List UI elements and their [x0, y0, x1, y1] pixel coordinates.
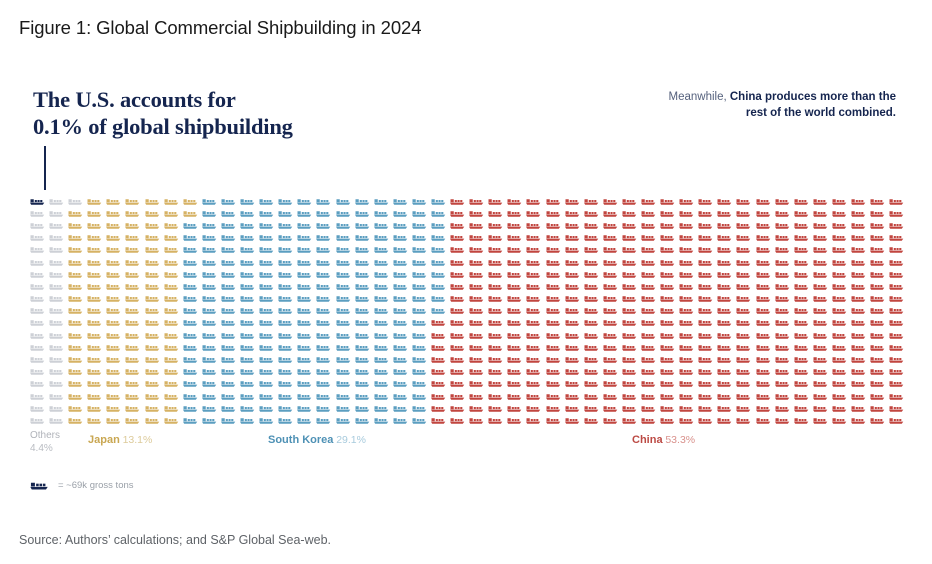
ship-icon [431, 366, 450, 378]
ship-icon [240, 329, 259, 341]
ship-icon [336, 366, 355, 378]
ship-icon [622, 329, 641, 341]
ship-icon [679, 329, 698, 341]
ship-icon [756, 353, 775, 365]
ship-icon [488, 317, 507, 329]
ship-icon [297, 232, 316, 244]
ship-icon [736, 280, 755, 292]
ship-icon [565, 378, 584, 390]
ship-icon [889, 219, 908, 231]
ship-icon [469, 232, 488, 244]
ship-icon [698, 280, 717, 292]
ship-icon [679, 280, 698, 292]
ship-icon [775, 341, 794, 353]
ship-icon [164, 353, 183, 365]
ship-icon [202, 232, 221, 244]
ship-icon [49, 219, 68, 231]
ship-icon [49, 317, 68, 329]
source-note: Source: Authors’ calculations; and S&P G… [19, 533, 331, 547]
ship-icon [698, 353, 717, 365]
ship-icon [68, 366, 87, 378]
ship-icon [565, 280, 584, 292]
ship-icon [641, 414, 660, 426]
ship-icon [698, 256, 717, 268]
china-annotation: Meanwhile, China produces more than the … [666, 90, 896, 121]
ship-icon [507, 414, 526, 426]
ship-icon [584, 256, 603, 268]
ship-icon [526, 341, 545, 353]
ship-icon [87, 366, 106, 378]
ship-icon [736, 329, 755, 341]
ship-icon [183, 195, 202, 207]
ship-icon [164, 317, 183, 329]
ship-icon [125, 207, 144, 219]
ship-icon [125, 305, 144, 317]
ship-icon [832, 305, 851, 317]
ship-icon [145, 317, 164, 329]
ship-icon [278, 378, 297, 390]
ship-icon [183, 280, 202, 292]
ship-icon [49, 244, 68, 256]
ship-icon [202, 390, 221, 402]
ship-icon [202, 293, 221, 305]
ship-icon [717, 402, 736, 414]
ship-icon [526, 293, 545, 305]
ship-icon [240, 402, 259, 414]
ship-icon [641, 329, 660, 341]
ship-icon [603, 280, 622, 292]
ship-icon [412, 414, 431, 426]
ship-icon [87, 341, 106, 353]
ship-icon [507, 268, 526, 280]
ship-icon [87, 414, 106, 426]
ship-icon [202, 329, 221, 341]
ship-icon [336, 353, 355, 365]
ship-icon [259, 232, 278, 244]
ship-icon [183, 293, 202, 305]
ship-icon [679, 402, 698, 414]
ship-icon [221, 341, 240, 353]
ship-icon [125, 195, 144, 207]
ship-icon [507, 317, 526, 329]
ship-icon [183, 414, 202, 426]
ship-icon [775, 232, 794, 244]
ship-icon [164, 232, 183, 244]
ship-icon [297, 402, 316, 414]
ship-icon [336, 195, 355, 207]
ship-icon [717, 378, 736, 390]
ship-icon [507, 341, 526, 353]
ship-icon [336, 280, 355, 292]
ship-icon [431, 207, 450, 219]
ship-icon [202, 353, 221, 365]
ship-icon [316, 414, 335, 426]
ship-icon [202, 317, 221, 329]
ship-icon [469, 402, 488, 414]
ship-icon [851, 378, 870, 390]
ship-icon [431, 317, 450, 329]
ship-icon [488, 219, 507, 231]
ship-icon [87, 207, 106, 219]
ship-icon [736, 402, 755, 414]
ship-icon [698, 414, 717, 426]
ship-icon [775, 317, 794, 329]
ship-icon [546, 414, 565, 426]
ship-icon [125, 353, 144, 365]
ship-icon [240, 207, 259, 219]
ship-icon [431, 195, 450, 207]
ship-icon [641, 317, 660, 329]
ship-icon [889, 341, 908, 353]
ship-icon [813, 244, 832, 256]
ship-icon [450, 353, 469, 365]
ship-icon [202, 414, 221, 426]
ship-icon [889, 317, 908, 329]
ship-icon [526, 232, 545, 244]
ship-icon [164, 390, 183, 402]
ship-icon [641, 390, 660, 402]
ship-icon [584, 219, 603, 231]
ship-icon [49, 341, 68, 353]
ship-icon [679, 195, 698, 207]
ship-icon [756, 402, 775, 414]
ship-icon [756, 219, 775, 231]
ship-icon [355, 293, 374, 305]
ship-icon [507, 353, 526, 365]
ship-icon [717, 195, 736, 207]
ship-icon [393, 256, 412, 268]
ship-icon [30, 378, 49, 390]
ship-icon [832, 244, 851, 256]
ship-icon [889, 378, 908, 390]
ship-icon [698, 317, 717, 329]
ship-icon [68, 378, 87, 390]
ship-icon [240, 268, 259, 280]
ship-icon [584, 378, 603, 390]
label-china-percent: 53.3% [665, 434, 695, 446]
ship-icon [603, 305, 622, 317]
ship-icon [603, 256, 622, 268]
ship-icon [221, 402, 240, 414]
ship-icon [221, 305, 240, 317]
ship-icon [603, 390, 622, 402]
ship-icon [565, 317, 584, 329]
ship-icon [336, 207, 355, 219]
ship-icon [202, 402, 221, 414]
ship-icon [813, 414, 832, 426]
ship-icon [507, 366, 526, 378]
ship-icon [660, 317, 679, 329]
ship-icon [584, 317, 603, 329]
ship-icon [145, 329, 164, 341]
ship-icon [221, 293, 240, 305]
ship-icon [106, 256, 125, 268]
ship-icon [240, 256, 259, 268]
ship-icon [794, 353, 813, 365]
ship-icon [794, 390, 813, 402]
ship-icon [813, 341, 832, 353]
ship-icon [450, 305, 469, 317]
ship-icon [125, 268, 144, 280]
ship-icon [374, 378, 393, 390]
ship-icon [183, 341, 202, 353]
ship-icon [431, 378, 450, 390]
ship-icon [546, 390, 565, 402]
ship-icon [316, 195, 335, 207]
ship-icon [30, 207, 49, 219]
ship-icon [145, 305, 164, 317]
ship-icon [240, 317, 259, 329]
ship-icon [336, 317, 355, 329]
ship-icon [297, 305, 316, 317]
ship-icon [336, 414, 355, 426]
ship-icon [355, 341, 374, 353]
ship-icon [374, 341, 393, 353]
ship-icon [278, 207, 297, 219]
ship-icon [794, 195, 813, 207]
ship-icon [775, 390, 794, 402]
ship-icon [412, 341, 431, 353]
ship-icon [794, 414, 813, 426]
ship-icon [336, 232, 355, 244]
ship-icon [679, 366, 698, 378]
ship-icon [278, 244, 297, 256]
ship-icon [183, 353, 202, 365]
ship-icon [316, 244, 335, 256]
ship-icon [469, 366, 488, 378]
ship-icon [832, 280, 851, 292]
ship-icon [183, 268, 202, 280]
ship-icon [603, 378, 622, 390]
ship-icon [889, 390, 908, 402]
ship-icon [355, 232, 374, 244]
ship-icon [603, 366, 622, 378]
ship-icon [526, 256, 545, 268]
ship-icon [469, 414, 488, 426]
ship-icon-grid [30, 195, 910, 427]
ship-icon [660, 244, 679, 256]
ship-icon [125, 256, 144, 268]
ship-icon [584, 195, 603, 207]
ship-icon [145, 195, 164, 207]
ship-icon [870, 353, 889, 365]
ship-icon [679, 232, 698, 244]
ship-icon [546, 353, 565, 365]
ship-icon [431, 293, 450, 305]
ship-icon [679, 219, 698, 231]
ship-icon [259, 390, 278, 402]
ship-icon [546, 244, 565, 256]
ship-icon [565, 244, 584, 256]
annotation-emphasis: China produces more than the rest of the… [727, 91, 896, 119]
ship-icon [336, 219, 355, 231]
ship-icon [794, 305, 813, 317]
ship-icon [278, 280, 297, 292]
ship-icon [469, 305, 488, 317]
ship-icon [278, 329, 297, 341]
ship-icon [565, 219, 584, 231]
ship-icon [660, 378, 679, 390]
ship-icon [221, 378, 240, 390]
ship-icon [736, 268, 755, 280]
ship-icon [393, 317, 412, 329]
ship-icon [164, 244, 183, 256]
ship-icon [889, 402, 908, 414]
ship-icon [546, 280, 565, 292]
ship-icon [889, 366, 908, 378]
ship-icon [698, 390, 717, 402]
ship-icon [851, 280, 870, 292]
ship-icon [565, 232, 584, 244]
ship-icon [832, 353, 851, 365]
ship-icon [125, 366, 144, 378]
ship-icon [717, 268, 736, 280]
ship-icon [450, 207, 469, 219]
ship-icon [183, 329, 202, 341]
ship-icon [660, 366, 679, 378]
ship-icon [603, 402, 622, 414]
ship-icon [240, 244, 259, 256]
ship-icon [660, 232, 679, 244]
ship-icon [68, 390, 87, 402]
ship-icon [316, 378, 335, 390]
ship-icon [393, 244, 412, 256]
ship-icon [106, 219, 125, 231]
ship-icon [526, 390, 545, 402]
ship-icon [698, 329, 717, 341]
ship-icon [106, 244, 125, 256]
ship-icon [145, 390, 164, 402]
ship-icon [622, 366, 641, 378]
ship-icon [106, 195, 125, 207]
ship-icon [889, 353, 908, 365]
ship-icon [565, 366, 584, 378]
ship-icon [412, 280, 431, 292]
ship-icon [202, 378, 221, 390]
ship-icon [145, 353, 164, 365]
ship-icon [603, 195, 622, 207]
ship-icon [145, 256, 164, 268]
ship-icon [584, 207, 603, 219]
ship-icon [374, 244, 393, 256]
ship-icon [125, 402, 144, 414]
ship-icon [851, 305, 870, 317]
ship-icon [336, 390, 355, 402]
ship-icon [679, 244, 698, 256]
ship-icon [49, 414, 68, 426]
ship-icon [49, 293, 68, 305]
ship-icon [526, 414, 545, 426]
ship-icon [240, 353, 259, 365]
ship-icon [412, 268, 431, 280]
ship-icon [164, 329, 183, 341]
ship-icon [870, 378, 889, 390]
ship-icon [469, 268, 488, 280]
ship-icon [660, 256, 679, 268]
ship-icon [507, 378, 526, 390]
ship-icon [49, 207, 68, 219]
ship-icon [450, 256, 469, 268]
ship-icon [336, 244, 355, 256]
ship-icon [794, 207, 813, 219]
ship-icon [68, 256, 87, 268]
ship-icon [813, 329, 832, 341]
ship-icon [870, 329, 889, 341]
ship-icon [794, 244, 813, 256]
ship-icon [145, 402, 164, 414]
ship-icon [202, 280, 221, 292]
ship-icon [336, 256, 355, 268]
ship-icon [756, 305, 775, 317]
ship-icon [30, 280, 49, 292]
ship-icon [30, 317, 49, 329]
ship-icon [202, 207, 221, 219]
ship-icon [278, 232, 297, 244]
ship-icon [526, 195, 545, 207]
ship-icon [870, 390, 889, 402]
ship-icon [68, 195, 87, 207]
ship-icon [622, 353, 641, 365]
ship-icon [68, 244, 87, 256]
legend-label: = ~69k gross tons [58, 480, 134, 491]
ship-icon [393, 305, 412, 317]
ship-icon [794, 256, 813, 268]
label-china: China 53.3% [632, 434, 695, 448]
ship-icon [412, 219, 431, 231]
ship-icon [240, 378, 259, 390]
ship-icon [87, 317, 106, 329]
ship-icon [49, 329, 68, 341]
ship-icon [164, 219, 183, 231]
ship-icon [736, 353, 755, 365]
ship-icon [488, 414, 507, 426]
ship-icon [565, 256, 584, 268]
ship-icon [68, 207, 87, 219]
ship-icon [717, 329, 736, 341]
ship-icon [584, 366, 603, 378]
ship-icon [622, 317, 641, 329]
ship-icon [125, 341, 144, 353]
ship-icon [412, 353, 431, 365]
ship-icon [679, 317, 698, 329]
ship-icon [336, 378, 355, 390]
ship-icon [641, 256, 660, 268]
ship-icon [469, 244, 488, 256]
ship-icon [507, 329, 526, 341]
ship-icon [546, 195, 565, 207]
ship-icon [183, 317, 202, 329]
ship-icon [660, 207, 679, 219]
ship-icon [316, 256, 335, 268]
ship-icon [450, 378, 469, 390]
ship-icon [603, 232, 622, 244]
ship-icon [851, 317, 870, 329]
ship-icon [660, 329, 679, 341]
ship-icon [756, 256, 775, 268]
ship-icon [355, 219, 374, 231]
ship-icon [698, 341, 717, 353]
ship-icon [125, 219, 144, 231]
ship-icon [832, 219, 851, 231]
ship-icon [87, 305, 106, 317]
ship-icon [316, 329, 335, 341]
ship-icon [316, 317, 335, 329]
ship-icon [393, 280, 412, 292]
ship-icon [221, 256, 240, 268]
ship-icon [87, 378, 106, 390]
ship-icon [851, 207, 870, 219]
ship-icon [756, 207, 775, 219]
